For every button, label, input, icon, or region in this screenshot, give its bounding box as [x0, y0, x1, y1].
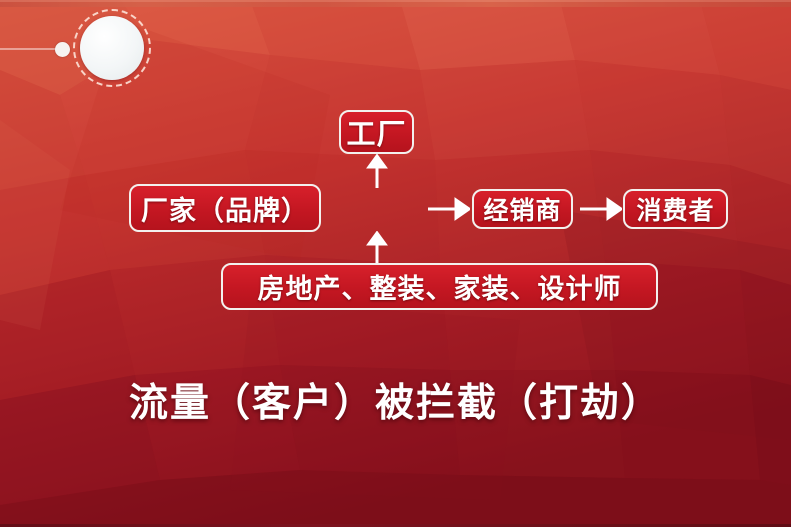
- slide-canvas: 工厂 厂家（品牌） 经销商 消费者 房地产、整装、家装、设计师 流量（客户）被拦…: [0, 0, 791, 527]
- badge-dot-icon: [55, 42, 70, 57]
- badge-connector-line: [0, 48, 62, 50]
- node-factory: 工厂: [339, 110, 414, 154]
- node-consumer: 消费者: [623, 189, 728, 229]
- node-channels: 房地产、整装、家装、设计师: [221, 263, 658, 310]
- node-manufacturer: 厂家（品牌）: [129, 184, 321, 232]
- node-dealer: 经销商: [472, 189, 573, 229]
- decorative-circle-badge: [60, 7, 156, 95]
- slide-caption: 流量（客户）被拦截（打劫）: [0, 372, 791, 428]
- top-hairline: [0, 0, 791, 2]
- badge-core-circle: [80, 16, 144, 80]
